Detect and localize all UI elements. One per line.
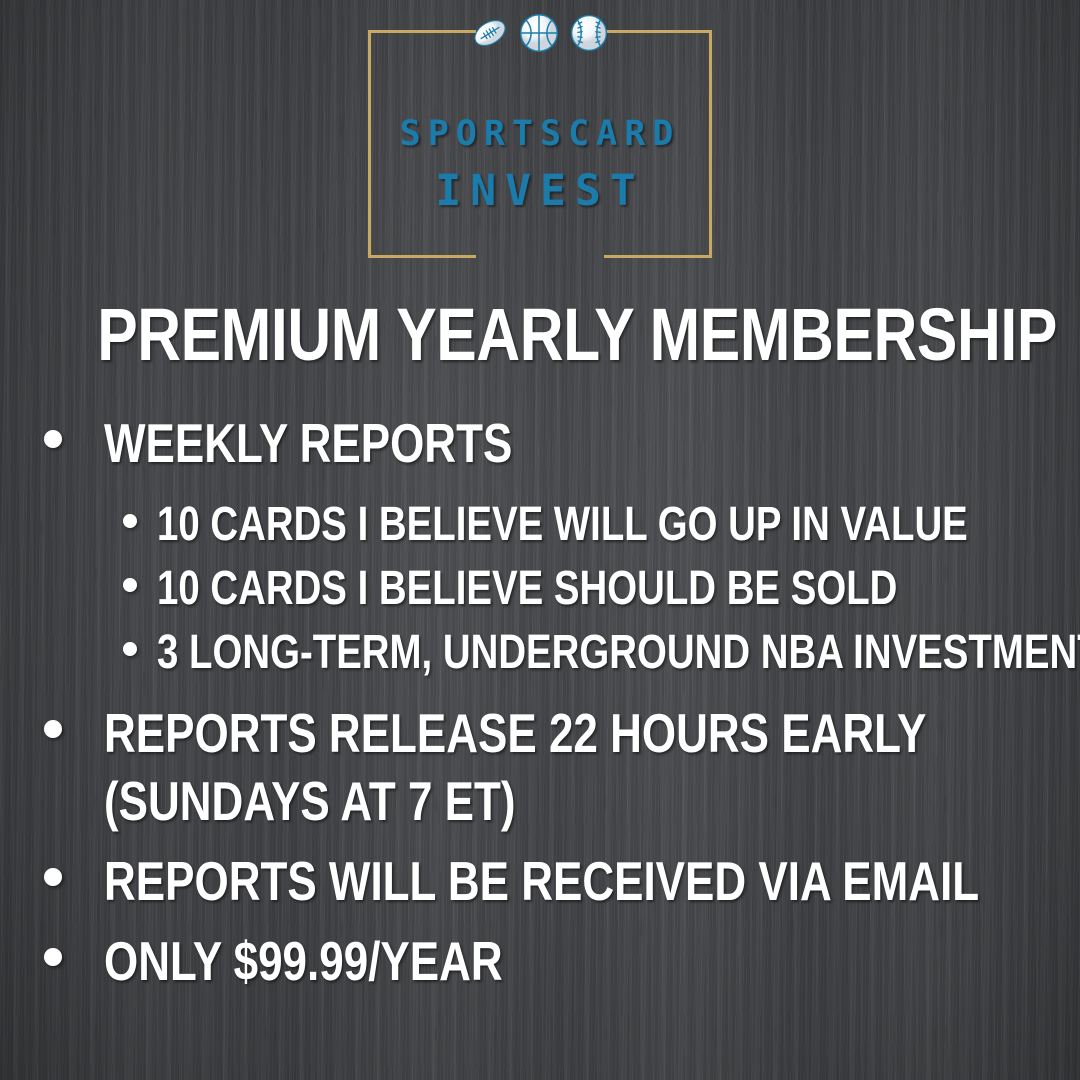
sports-balls-group (472, 13, 608, 58)
list-item-label: REPORTS WILL BE RECEIVED VIA EMAIL (104, 850, 979, 912)
list-item: 3 LONG-TERM, UNDERGROUND NBA INVESTMENTS (0, 624, 1080, 682)
list-item: 10 CARDS I BELIEVE WILL GO UP IN VALUE (0, 496, 1080, 554)
logo-text-sportscard: SPORTSCARD (368, 114, 712, 154)
list-item-label: 10 CARDS I BELIEVE SHOULD BE SOLD (157, 560, 897, 618)
list-item: REPORTS RELEASE 22 HOURS EARLY (0, 702, 1080, 764)
bullet-dot-icon (44, 868, 62, 886)
logo-text-invest: INVEST (368, 166, 712, 216)
price-label: ONLY $99.99/YEAR (104, 930, 503, 992)
bullet-dot-icon (44, 948, 62, 966)
benefits-list: WEEKLY REPORTS 10 CARDS I BELIEVE WILL G… (0, 412, 1080, 992)
promo-poster: SPORTSCARD INVEST PREMIUM YEARLY MEMBERS… (0, 0, 1080, 1080)
poster-content: SPORTSCARD INVEST PREMIUM YEARLY MEMBERS… (0, 0, 1080, 1080)
list-item-continuation-label: (SUNDAYS AT 7 ET) (104, 770, 516, 832)
bullet-dot-icon (44, 720, 62, 738)
list-item-label: 10 CARDS I BELIEVE WILL GO UP IN VALUE (157, 496, 968, 554)
list-item: REPORTS WILL BE RECEIVED VIA EMAIL (0, 850, 1080, 912)
football-icon (472, 15, 508, 56)
list-item-label: REPORTS RELEASE 22 HOURS EARLY (104, 702, 926, 764)
bullet-dot-icon (44, 430, 62, 448)
bullet-dot-icon (123, 578, 137, 592)
list-item: 10 CARDS I BELIEVE SHOULD BE SOLD (0, 560, 1080, 618)
list-item-continuation: (SUNDAYS AT 7 ET) (0, 770, 1080, 832)
brand-logo: SPORTSCARD INVEST (368, 30, 712, 258)
baseball-icon (570, 14, 608, 57)
page-title: PREMIUM YEARLY MEMBERSHIP (97, 296, 983, 374)
list-item-label: 3 LONG-TERM, UNDERGROUND NBA INVESTMENTS (157, 624, 1080, 682)
bullet-dot-icon (123, 514, 137, 528)
list-item-label: WEEKLY REPORTS (104, 412, 512, 474)
basketball-icon (519, 13, 559, 58)
bullet-dot-icon (123, 642, 137, 656)
list-item: WEEKLY REPORTS (0, 412, 1080, 474)
list-item-price: ONLY $99.99/YEAR (0, 930, 1080, 992)
